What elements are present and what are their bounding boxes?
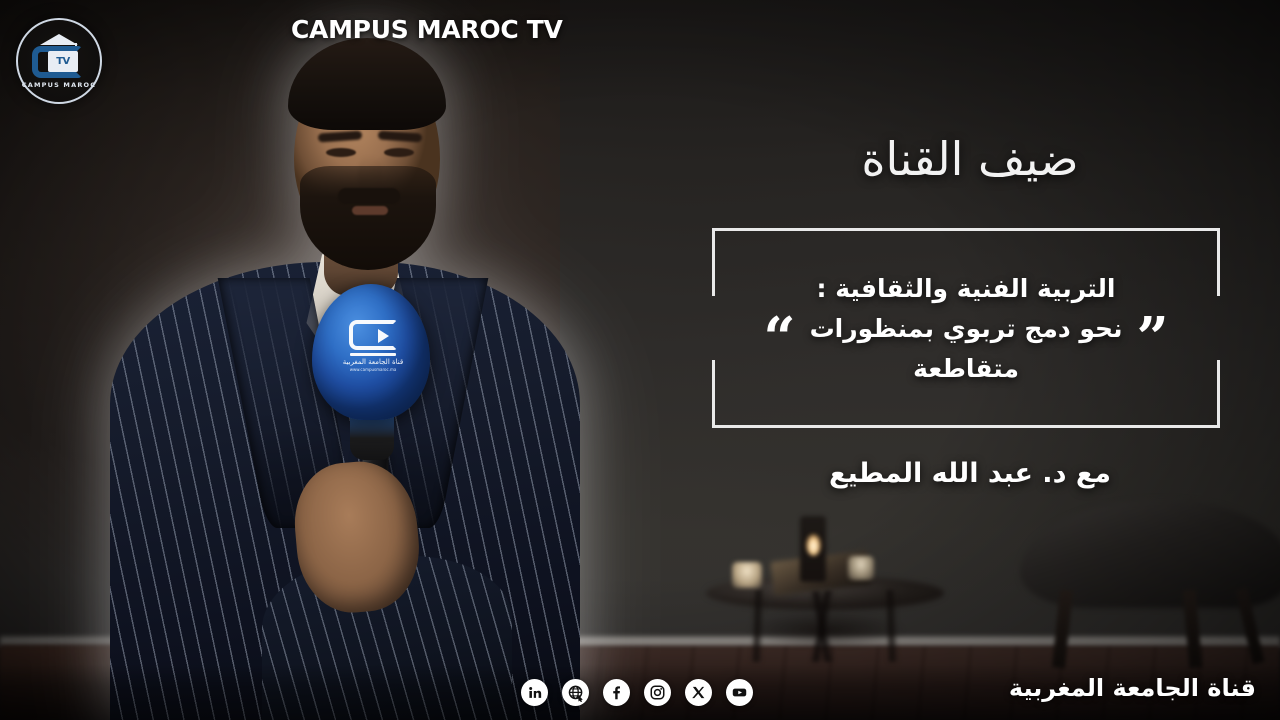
- x-icon[interactable]: [685, 679, 712, 706]
- guest-portrait: قناة الجامعة المغربية www.campusmaroc.ma: [86, 16, 616, 720]
- logo-c-monogram: TV: [32, 46, 86, 78]
- channel-logo-badge[interactable]: TV CAMPUS MAROC: [16, 18, 102, 104]
- guest-name-line: مع د. عبد الله المطيع: [660, 458, 1280, 489]
- facebook-icon[interactable]: [603, 679, 630, 706]
- quote-text-block: التربية الفنية والثقافية : ” نحو دمج ترب…: [712, 228, 1220, 428]
- website-globe-icon[interactable]: [562, 679, 589, 706]
- microphone-flag-logo: قناة الجامعة المغربية www.campusmaroc.ma: [342, 320, 404, 372]
- eye-left: [326, 148, 356, 157]
- channel-wordmark: CAMPUS MAROC TV: [291, 15, 563, 44]
- mic-logo-play-triangle: [378, 329, 389, 343]
- youtube-icon[interactable]: [726, 679, 753, 706]
- graduation-cap-icon: [40, 34, 78, 45]
- quote-frame: التربية الفنية والثقافية : ” نحو دمج ترب…: [712, 228, 1220, 428]
- content-panel: ضيف القناة التربية الفنية والثقافية : ” …: [660, 0, 1280, 660]
- mustache: [338, 188, 400, 204]
- quote-line-3: متقاطعة: [913, 354, 1019, 383]
- social-links: [521, 679, 753, 706]
- mic-logo-url-text: www.campusmaroc.ma: [350, 367, 397, 372]
- eye-right: [384, 148, 414, 157]
- section-title: ضيف القناة: [660, 132, 1280, 186]
- quote-line-2-row: ” نحو دمج تربوي بمنظورات “: [763, 314, 1168, 343]
- broadcast-graphic-stage: قناة الجامعة المغربية www.campusmaroc.ma…: [0, 0, 1280, 720]
- linkedin-icon[interactable]: [521, 679, 548, 706]
- logo-badge-name: CAMPUS MAROC: [22, 81, 96, 89]
- quote-line-2: نحو دمج تربوي بمنظورات: [810, 314, 1123, 343]
- mic-logo-c-mark: [349, 320, 397, 350]
- mic-logo-arabic-text: قناة الجامعة المغربية: [343, 358, 404, 366]
- channel-name-arabic: قناة الجامعة المغربية: [1009, 674, 1256, 702]
- mic-logo-bar: [350, 353, 396, 356]
- hair: [288, 38, 446, 130]
- beard: [300, 166, 436, 270]
- quote-line-1: التربية الفنية والثقافية :: [817, 274, 1116, 303]
- lips: [352, 206, 388, 215]
- instagram-icon[interactable]: [644, 679, 671, 706]
- logo-tv-text: TV: [48, 51, 78, 72]
